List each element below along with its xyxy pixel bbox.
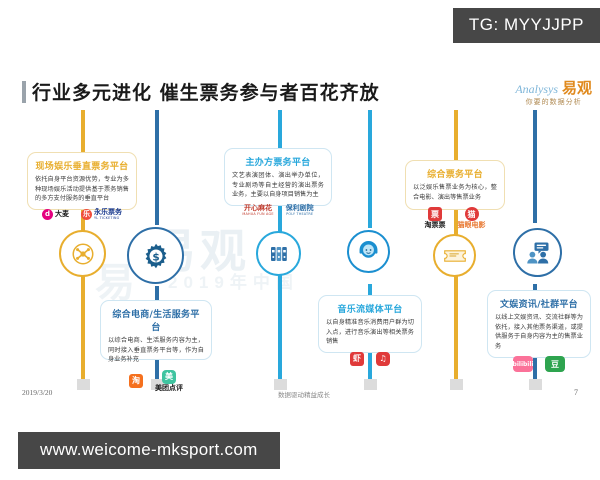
brand-douban[interactable]: 豆 (542, 355, 568, 373)
stem-col6-top (533, 110, 537, 223)
brand-mahua[interactable]: 开心麻花 MAHUA FUN AGE (239, 204, 276, 217)
card-body: 以泛娱乐售票业务为核心，整合电影、演出等售票业务 (413, 183, 497, 202)
brand-label: 开心麻花 (244, 205, 272, 212)
yongle-icon: 乐 (81, 209, 92, 220)
brand-logos: 开心麻花 MAHUA FUN AGE 保利剧院 POLY THEATRE (232, 204, 324, 217)
stem-col2-top (155, 110, 159, 225)
node-live-entertainment[interactable] (59, 230, 106, 277)
taobao-icon: 淘 (129, 374, 143, 388)
card-music-streaming[interactable]: 音乐流媒体平台 以自身精准音乐消费用户群为切入点，进行音乐演出等相关票务销售 虾… (318, 295, 422, 353)
logo-cn-text: 易观 (562, 80, 592, 97)
brand-sublabel: YL TICKETING (94, 216, 122, 220)
brand-label: 淘票票 (425, 222, 446, 229)
community-chat-icon (524, 239, 552, 267)
gear-dollar-icon: $ (141, 241, 171, 271)
logo-en-text: Analysys (515, 83, 558, 96)
stem-col1-top (81, 110, 85, 158)
slide-canvas: 易 易观 2019年中国 行业多元进化 催生票务参与者百花齐放 Analysys… (0, 0, 600, 418)
card-comprehensive-ticketing[interactable]: 综合票务平台 以泛娱乐售票业务为核心，整合电影、演出等售票业务 票 淘票票 猫 … (405, 160, 505, 210)
card-body: 以线上文娱资讯、交流社群等为依托，接入其他票务渠道，或提供服务于自身内容为主的售… (495, 313, 583, 351)
brand-taobao[interactable]: 淘 (126, 373, 146, 389)
brand-poly[interactable]: 保利剧院 POLY THEATRE (283, 204, 317, 217)
card-organizer-ticketing[interactable]: 主办方票务平台 文艺表演团体、演出举办单位，专业剧场等自主经营的演出票务业务，主… (224, 148, 332, 206)
foot-col4 (364, 379, 377, 390)
meituan-icon: 美 (162, 370, 176, 384)
brand-damai[interactable]: d 大麦 (39, 208, 72, 221)
card-body: 依托自身平台资源优势，专业为多种现场娱乐活动提供基于票务销售的多方支付服务的垂直… (35, 175, 129, 204)
brand-label-wrap: 永乐票务 YL TICKETING (94, 209, 122, 220)
foot-col1 (77, 379, 90, 390)
node-comprehensive-ticketing[interactable] (433, 234, 476, 277)
title-accent-bar (22, 81, 26, 103)
taopiaopiao-icon: 票 (428, 207, 442, 221)
brand-taopiaopiao[interactable]: 票 淘票票 (422, 206, 449, 230)
node-organizer-ticketing[interactable] (256, 231, 301, 276)
netease-music-icon: ♫ (376, 352, 390, 366)
stem-col5-top (454, 110, 458, 160)
footer-tagline: 数据驱动精益成长 (278, 389, 330, 399)
brand-logos: 票 淘票票 猫 猫眼电影 (413, 206, 497, 230)
card-live-entertainment-vertical-ticketing[interactable]: 现场娱乐垂直票务平台 依托自身平台资源优势，专业为多种现场娱乐活动提供基于票务销… (27, 152, 137, 210)
foot-col5 (450, 379, 463, 390)
footer-date: 2019/3/20 (22, 388, 52, 397)
card-media-community[interactable]: 文娱资讯/社群平台 以线上文娱资讯、交流社群等为依托，接入其他票务渠道，或提供服… (487, 290, 591, 358)
bilibili-icon: bilibili (513, 356, 533, 372)
brand-label: 大麦 (55, 211, 69, 218)
title-text: 行业多元进化 催生票务参与者百花齐放 (32, 78, 380, 105)
damai-icon: d (42, 209, 53, 220)
foot-col6 (529, 379, 542, 390)
url-watermark-bar: www.weicome-mksport.com (18, 432, 280, 469)
brand-bilibili[interactable]: bilibili (510, 355, 536, 373)
brand-logos: 淘 美 美团点评 (108, 369, 204, 393)
card-title: 现场娱乐垂直票务平台 (35, 159, 129, 172)
logo-tagline: 你要的数据分析 (515, 99, 592, 107)
brand-meituan-dianping[interactable]: 美 美团点评 (152, 369, 186, 393)
headphone-user-icon (356, 239, 381, 264)
maoyan-icon: 猫 (465, 207, 479, 221)
brand-label: 美团点评 (155, 385, 183, 392)
card-title: 主办方票务平台 (232, 155, 324, 168)
brand-xiami[interactable]: 虾 (347, 351, 367, 367)
footer-page-number: 7 (574, 388, 578, 397)
brand-maoyan[interactable]: 猫 猫眼电影 (455, 206, 489, 230)
douban-icon: 豆 (545, 356, 565, 372)
brand-logos: 虾 ♫ (326, 351, 414, 367)
brand-label: 保利剧院 (286, 205, 314, 212)
node-media-community[interactable] (513, 228, 562, 277)
node-music-streaming[interactable] (347, 230, 390, 273)
stem-col4-top (368, 110, 372, 228)
brand-label: 猫眼电影 (458, 222, 486, 229)
card-body: 文艺表演团体、演出举办单位，专业剧场等自主经营的演出票务业务，主要以自身项目销售… (232, 171, 324, 200)
svg-text:$: $ (152, 251, 159, 263)
brand-sublabel: MAHUA FUN AGE (242, 212, 273, 216)
card-title: 文娱资讯/社群平台 (495, 297, 583, 310)
brand-yongle[interactable]: 乐 永乐票务 YL TICKETING (78, 208, 125, 221)
ticket-stub-icon (443, 246, 467, 266)
card-body: 以自身精准音乐消费用户群为切入点，进行音乐演出等相关票务销售 (326, 318, 414, 347)
card-ecommerce-lifestyle[interactable]: 综合电商/生活服务平台 以综合电商、生活服务内容为主，同时接入垂直票务平台等，作… (100, 300, 212, 360)
brand-logos: d 大麦 乐 永乐票务 YL TICKETING (35, 208, 129, 221)
brand-sublabel: POLY THEATRE (286, 212, 313, 216)
brand-netease-music[interactable]: ♫ (373, 351, 393, 367)
ticket-compass-icon (70, 241, 96, 267)
archive-books-icon (267, 242, 291, 266)
node-ecommerce-lifestyle[interactable]: $ (127, 227, 184, 284)
card-body: 以综合电商、生活服务内容为主，同时接入垂直票务平台等，作为自身业务补充 (108, 336, 204, 365)
xiami-icon: 虾 (350, 352, 364, 366)
brand-label: 永乐票务 (94, 209, 122, 216)
page-title: 行业多元进化 催生票务参与者百花齐放 (22, 78, 380, 105)
card-title: 音乐流媒体平台 (326, 302, 414, 315)
card-title: 综合票务平台 (413, 167, 497, 180)
brand-logos: bilibili 豆 (495, 355, 583, 373)
tg-watermark-badge: TG: MYYJJPP (453, 8, 600, 43)
analysys-logo: Analysys 易观 你要的数据分析 (515, 80, 592, 106)
card-title: 综合电商/生活服务平台 (108, 307, 204, 333)
stem-col3-top (278, 110, 282, 148)
